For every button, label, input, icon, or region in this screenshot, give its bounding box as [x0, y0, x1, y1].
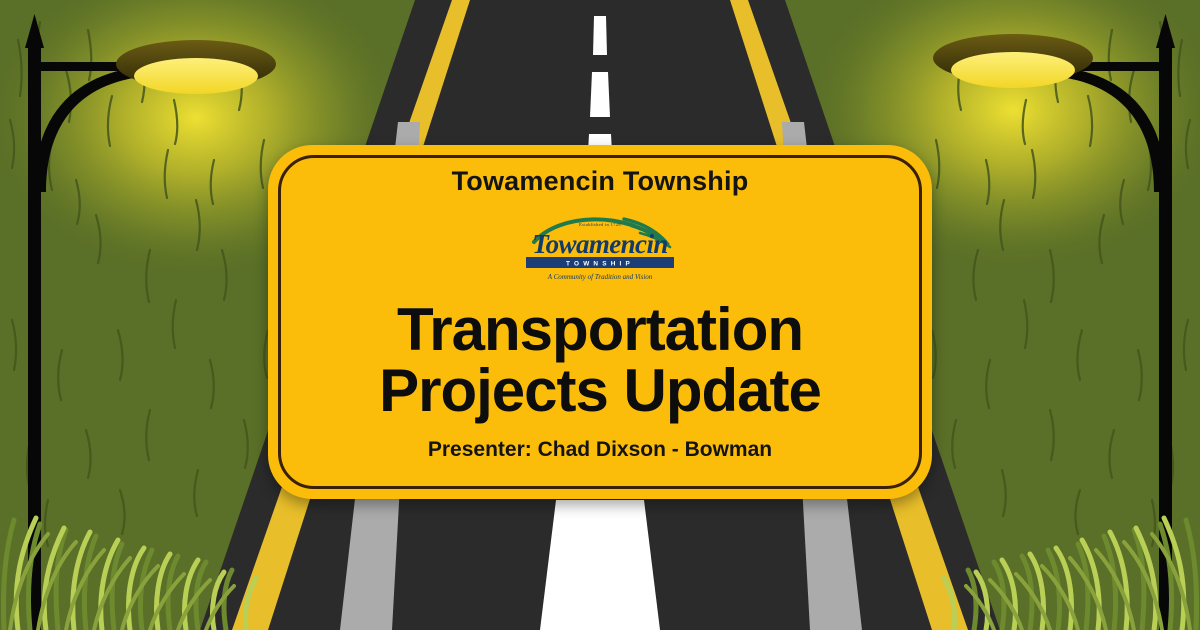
grass-tuft-left: [3, 518, 256, 630]
slide-canvas: Towamencin Township Established in 1728 …: [0, 0, 1200, 630]
grass-tuft-right: [944, 518, 1197, 630]
foreground-grass: [0, 0, 1200, 630]
